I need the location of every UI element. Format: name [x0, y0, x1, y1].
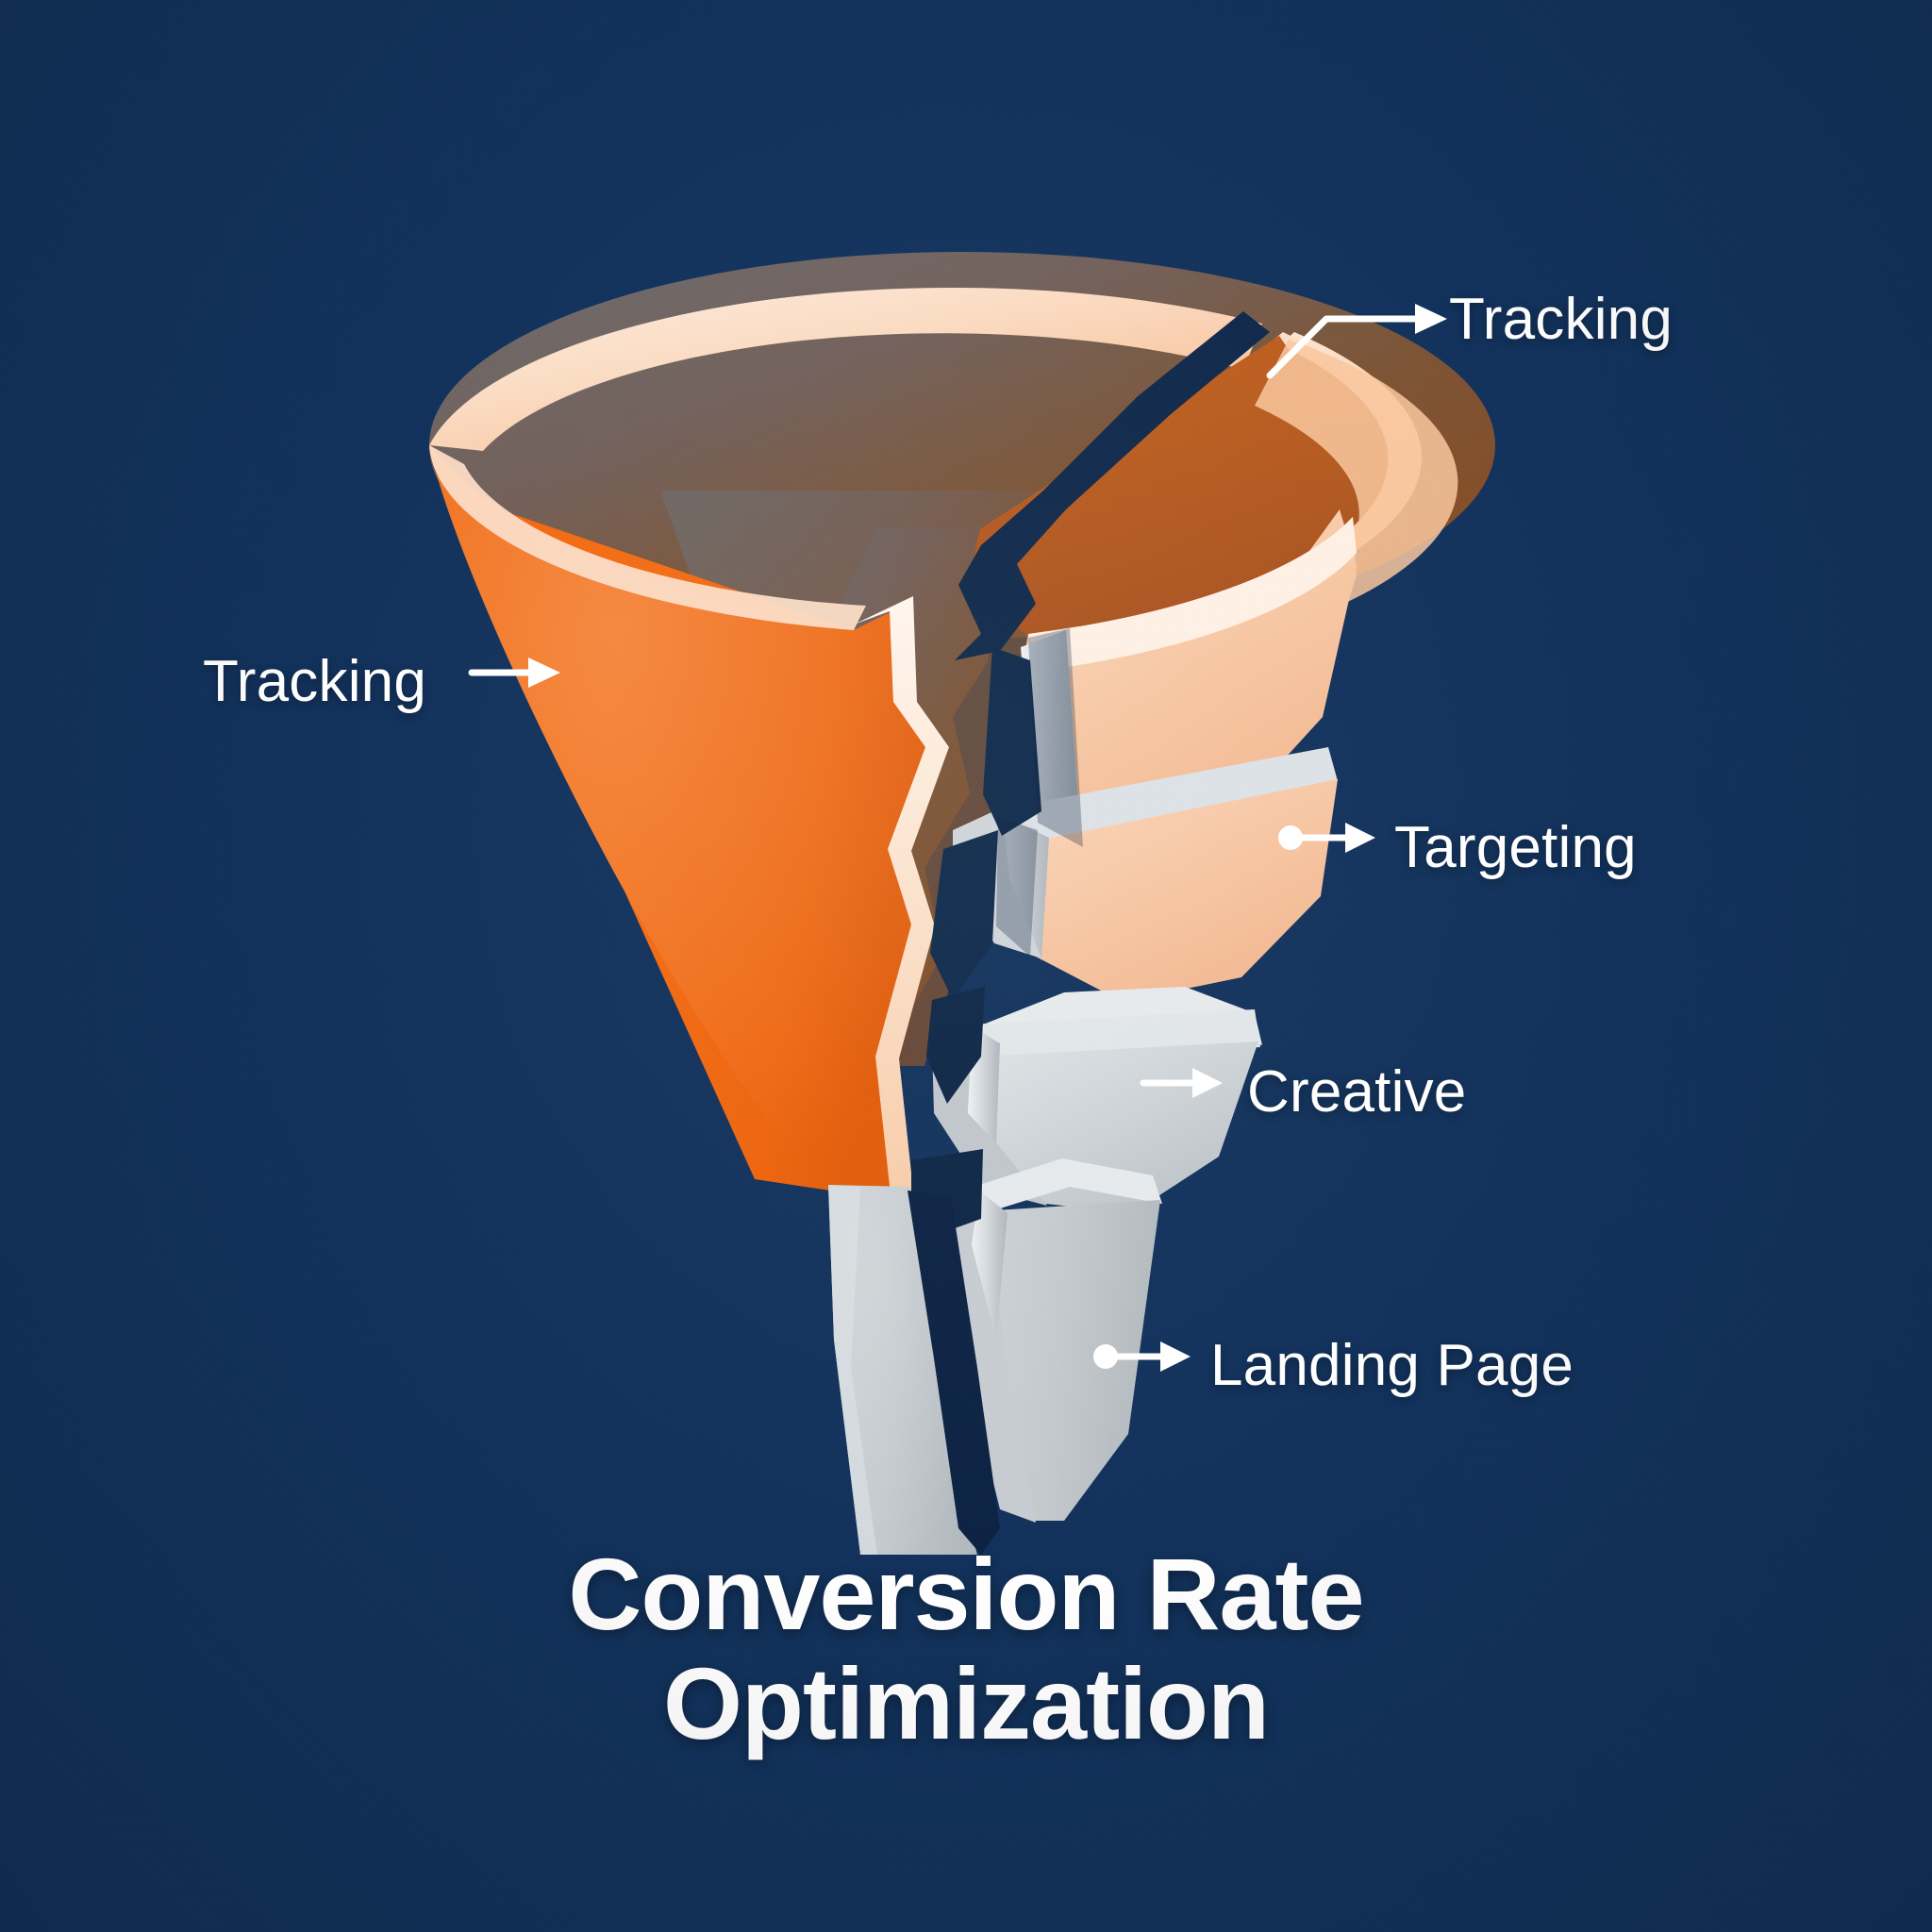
page-title-line-2: Optimization: [0, 1649, 1932, 1758]
page-title-line-1: Conversion Rate: [0, 1540, 1932, 1649]
callout-label-creative[interactable]: Creative: [1247, 1058, 1466, 1125]
infographic-canvas: Tracking Tracking Targeting Creative Lan…: [0, 0, 1932, 1932]
page-title: Conversion Rate Optimization: [0, 1540, 1932, 1757]
callout-label-tracking-left[interactable]: Tracking: [203, 648, 426, 715]
connector-landing-page: [1093, 1341, 1191, 1372]
callout-label-landing-page[interactable]: Landing Page: [1210, 1332, 1574, 1399]
callout-label-tracking-top[interactable]: Tracking: [1449, 286, 1673, 353]
callout-label-targeting[interactable]: Targeting: [1394, 814, 1637, 881]
